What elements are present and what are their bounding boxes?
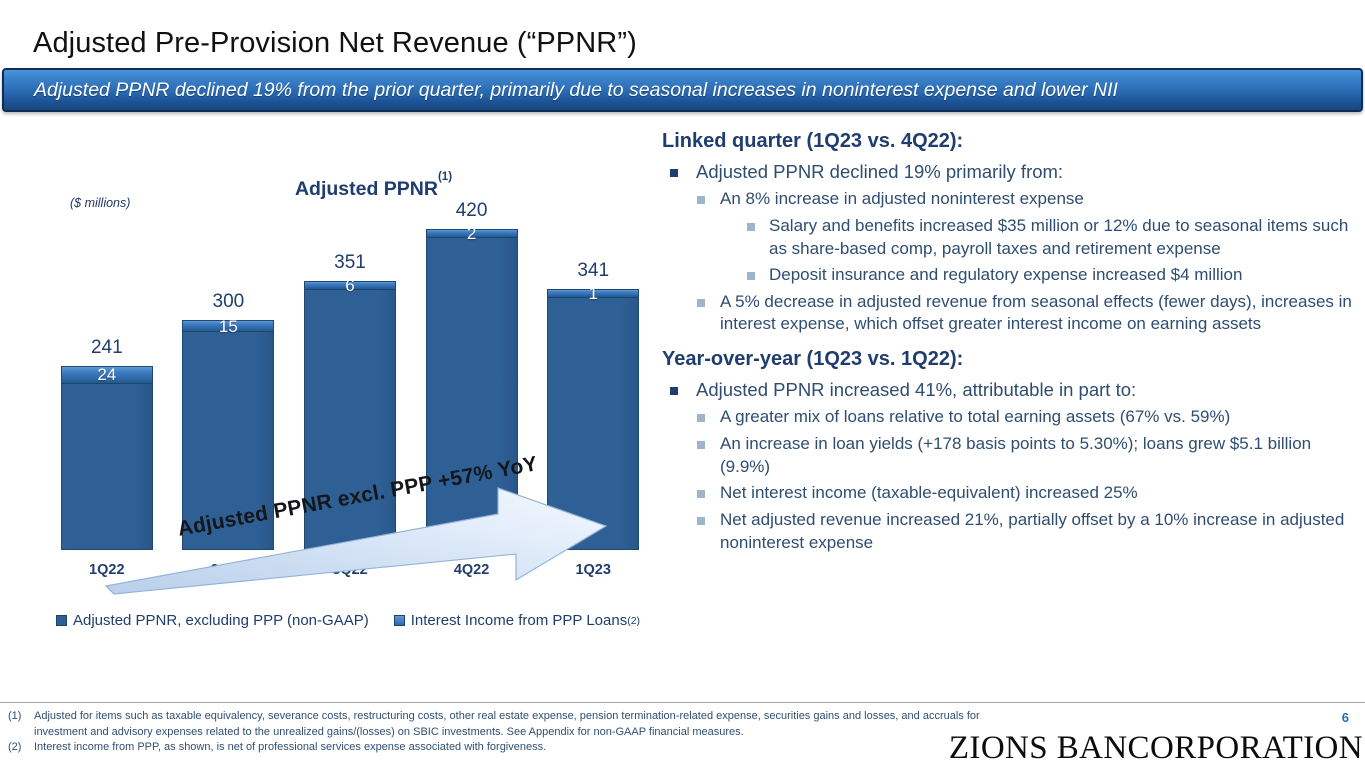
bar-stack: 15 (182, 320, 274, 550)
bar-segment-ppp-value: 24 (97, 366, 116, 383)
bar-segment-ppp-value: 1 (588, 285, 597, 302)
bar-segment-main (61, 384, 153, 550)
bullet-level-2: A 5% decrease in adjusted revenue from s… (688, 291, 1362, 336)
bar-stack: 2 (426, 229, 518, 550)
bar-group-1q22: 24 (61, 120, 153, 550)
page-number: 6 (1342, 710, 1349, 725)
bar-segment-main (182, 332, 274, 550)
bar-group-2q22: 15 (182, 120, 274, 550)
chart-panel: ($ millions) Adjusted PPNR(1) 242411Q221… (0, 120, 655, 680)
bar-total-label-2q22: 300 (182, 291, 274, 313)
legend-swatch-icon-main (56, 615, 67, 626)
x-axis-label-3q22: 3Q22 (304, 562, 396, 578)
bullet-level-3: Deposit insurance and regulatory expense… (738, 264, 1362, 287)
legend-swatch-icon-ppp (394, 615, 405, 626)
bar-segment-ppp: 6 (304, 281, 396, 290)
footnote-marker: (1) (8, 709, 34, 740)
bullet-level-2: Net adjusted revenue increased 21%, part… (688, 509, 1362, 554)
x-axis-label-1q22: 1Q22 (61, 562, 153, 578)
x-axis-label-1q23: 1Q23 (547, 562, 639, 578)
bar-stack: 6 (304, 281, 396, 550)
commentary-section-heading-2: Year-over-year (1Q23 vs. 1Q22): (662, 348, 1362, 371)
legend-label-ppp-superscript: (2) (627, 615, 640, 627)
legend-label-ppp: Interest Income from PPP Loans (411, 612, 628, 629)
slide-root: Adjusted Pre-Provision Net Revenue (“PPN… (0, 0, 1365, 768)
bullet-level-2: An increase in loan yields (+178 basis p… (688, 433, 1362, 478)
bullet-level-1: Adjusted PPNR increased 41%, attributabl… (662, 378, 1362, 402)
legend-label-main: Adjusted PPNR, excluding PPP (non-GAAP) (73, 612, 369, 629)
bar-group-1q23: 1 (547, 120, 639, 550)
bullet-list-level-2: A greater mix of loans relative to total… (688, 406, 1362, 554)
bullet-level-2: An 8% increase in adjusted noninterest e… (688, 188, 1362, 211)
page-title: Adjusted Pre-Provision Net Revenue (“PPN… (33, 27, 637, 60)
bar-total-label-3q22: 351 (304, 252, 396, 274)
bar-group-4q22: 2 (426, 120, 518, 550)
bar-segment-ppp-value: 2 (467, 225, 476, 242)
bullet-level-2: A greater mix of loans relative to total… (688, 406, 1362, 429)
bullet-level-2: Net interest income (taxable-equivalent)… (688, 482, 1362, 505)
bar-segment-ppp: 24 (61, 366, 153, 384)
bar-total-label-1q22: 241 (61, 337, 153, 359)
bullet-list-level-3: Salary and benefits increased $35 millio… (738, 215, 1362, 287)
bar-total-label-4q22: 420 (426, 200, 518, 222)
legend-item-adjusted-ppnr: Adjusted PPNR, excluding PPP (non-GAAP) (56, 612, 369, 629)
bar-segment-ppp-value: 6 (345, 277, 354, 294)
commentary-section-heading-1: Linked quarter (1Q23 vs. 4Q22): (662, 130, 1362, 153)
bullet-list-level-1: Adjusted PPNR increased 41%, attributabl… (662, 378, 1362, 554)
legend-item-ppp-interest: Interest Income from PPP Loans(2) (394, 612, 640, 629)
bar-segment-main (547, 298, 639, 550)
chart-legend: Adjusted PPNR, excluding PPP (non-GAAP) … (56, 612, 640, 629)
x-axis-label-4q22: 4Q22 (426, 562, 518, 578)
bar-segment-ppp-value: 15 (219, 318, 238, 335)
bar-segment-main (426, 238, 518, 550)
bullet-level-1: Adjusted PPNR declined 19% primarily fro… (662, 160, 1362, 184)
bar-stack: 1 (547, 289, 639, 550)
bullet-list-level-1: Adjusted PPNR declined 19% primarily fro… (662, 160, 1362, 336)
commentary-panel: Linked quarter (1Q23 vs. 4Q22):Adjusted … (662, 130, 1362, 558)
bar-segment-ppp: 2 (426, 229, 518, 238)
footer-divider (0, 702, 1365, 703)
x-axis-label-2q22: 2Q22 (182, 562, 274, 578)
bar-segment-ppp: 1 (547, 289, 639, 298)
bullet-level-3: Salary and benefits increased $35 millio… (738, 215, 1362, 260)
headline-banner-text: Adjusted PPNR declined 19% from the prio… (4, 79, 1118, 102)
company-logo: ZIONS BANCORPORATION (949, 730, 1363, 767)
chart-plot-area: 242411Q22153002Q2263513Q2224204Q2213411Q… (46, 120, 654, 550)
bar-segment-ppp: 15 (182, 320, 274, 331)
bullet-list-level-2: An 8% increase in adjusted noninterest e… (688, 188, 1362, 336)
bar-segment-main (304, 290, 396, 550)
bar-group-3q22: 6 (304, 120, 396, 550)
headline-banner: Adjusted PPNR declined 19% from the prio… (2, 68, 1363, 112)
bar-stack: 24 (61, 366, 153, 550)
bar-total-label-1q23: 341 (547, 260, 639, 282)
footnote-marker: (2) (8, 740, 34, 756)
